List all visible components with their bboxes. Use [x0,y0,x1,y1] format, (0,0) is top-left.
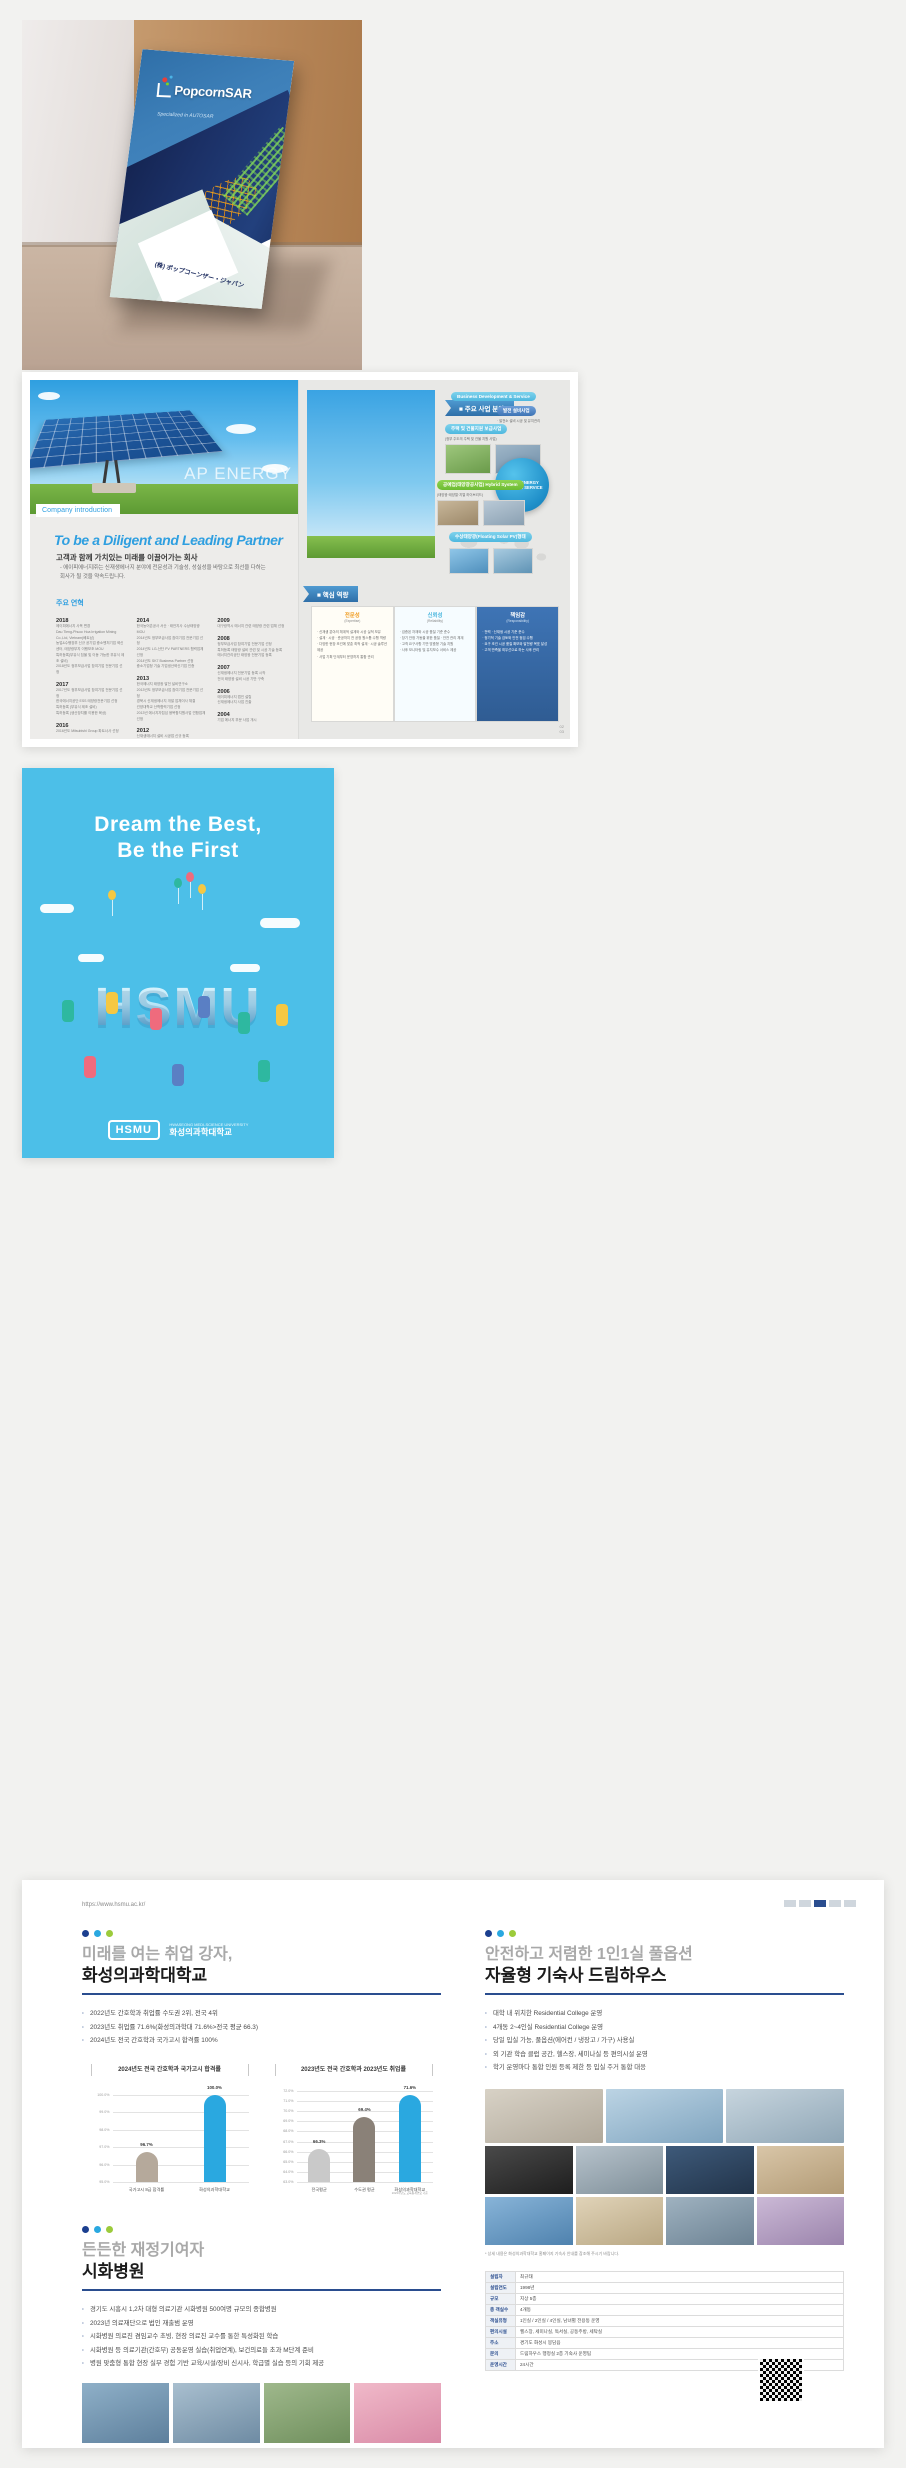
table-key: 문의 [486,2348,516,2359]
left-title-dark: 화성의과학대학교 [82,1965,441,1986]
dormitory-info-table: 설립자최규태설립연도1998년규모지상 5층총 객실수4개동객실유형1인실 / … [485,2271,844,2371]
chart-value-label: 96.7% [140,2142,152,2147]
history-entry: 신재생에너지 설비 시공업 신규 등록 [137,734,206,739]
left-section2-title-light: 든든한 재정기여자 [82,2241,441,2261]
ap-energy-wordmark: AP ENERGY [184,464,292,484]
chart-national-exam: 2024년도 전국 간호학과 국가고시 합격률 95.0%96.0%97.0%9… [91,2064,249,2196]
page-indicator-dot [844,1900,856,1907]
left-section2-bullet-list: 경기도 시흥시 1,2차 대형 의료기관 시화병원 500여명 규모의 종합병원… [82,2303,441,2370]
left-bullet-list: 2022년도 간호학과 취업률 수도권 2위, 전국 4위2023년도 취업률 … [82,2007,441,2047]
lead-subheadline: 고객과 함께 가치있는 미래를 이끌어가는 회사 [56,552,198,563]
illustration-figure [276,1004,288,1026]
illustration-figure [62,1000,74,1022]
dorm-photo [485,2146,573,2194]
table-key: 규모 [486,2293,516,2304]
illustration-figure [198,996,210,1018]
url-text: https://www.hsmu.ac.kr/ [82,1902,145,1908]
history-columns: 2018에이피에너지 사옥 변경Dau Tieng-Phuoc Hoa Irri… [56,612,286,739]
hospital-photo-grid [82,2383,441,2443]
chart-title-national-exam: 2024년도 전국 간호학과 국가고시 합격률 [91,2064,249,2076]
pill-hybrid-system: 공예업(태양광공사업) Hybrid System [437,480,524,490]
table-row: 편의시설헬스장, 세미나실, 독서실, 공동주방, 세탁실 [486,2326,844,2337]
history-entry: 기업 에너지 부문 사업 개시 [217,718,286,724]
title-rule [82,1993,441,1995]
spread-left-page: AP ENERGY Company introduction To be a D… [30,380,298,739]
core-item: · 고객 만족을 최우선으로 하는 사후 관리 [482,647,553,653]
history-section-title: 주요 연혁 [56,598,84,608]
table-key: 객실유형 [486,2315,516,2326]
chart-bar: 96.7% [136,2152,158,2182]
section-dot [485,1930,492,1937]
ap-energy-brochure-spread: AP ENERGY Company introduction To be a D… [22,372,578,747]
chart-title-employment-rate: 2023년도 전국 간호학과 2023년도 취업률 [275,2064,433,2076]
pill-hybrid-caption: (태양광·태양열·지열 하이브리드) [437,492,483,497]
chart-ytick: 98.0% [99,2128,109,2132]
history-entry: 2018년도 정부보급사업 참여기업 전문기업 선정 [56,664,125,676]
bullet-item: 2024년도 전국 간호학과 국가고시 합격률 100% [82,2034,441,2047]
cloud-icon [230,964,260,972]
chart-ytick: 69.0% [283,2119,293,2123]
section-dot [94,1930,101,1937]
hospital-photo [173,2383,260,2443]
balloon-icon [198,884,206,894]
chart-ytick: 97.0% [99,2145,109,2149]
core-body-responsibility: · 전력 · 신재생 시공 기준 준수· 정기적 기술 검토와 안전 점검 수행… [477,625,558,658]
table-row: 총 객실수4개동 [486,2304,844,2315]
table-value: 지상 5층 [516,2293,844,2304]
chart-employment-rate: 2023년도 전국 간호학과 2023년도 취업률 63.0%64.0%65.0… [275,2064,433,2196]
lead-body-text: - 에이피에너지㈜는 신재생에너지 분야에 전문성과 기술성, 성실성을 바탕으… [60,564,270,582]
bullet-item: 경기도 시흥시 1,2차 대형 의료기관 시화병원 500여명 규모의 종합병원 [82,2303,441,2316]
table-value: 4개동 [516,2304,844,2315]
history-entry: 2014년도 LG-산단 PV PARTNERS 협력업체 선정 [137,647,206,659]
history-entry: 2017년도 정부보급사업 참여기업 전문기업 선정 [56,688,125,700]
illustration-figure [106,992,118,1014]
bullet-item: 병원 맞춤형 통합 현장 실무 경험 기반 교육/시설/장비 신시사, 학급별 … [82,2357,441,2370]
page-indicator [784,1900,856,1907]
dormitory-photo-row [485,2146,844,2194]
bullet-item: 2023년 의료재단으로 법인 재출범 운영 [82,2317,441,2330]
right-title-rule [485,1993,844,1995]
balloon-icon [186,872,194,882]
table-value: 최규태 [516,2271,844,2282]
chart-value-label: 66.3% [313,2139,325,2144]
table-row: 객실유형1인실 / 2인실 / 4인실, 남녀별 전용동 운영 [486,2315,844,2326]
illustration-figure [258,1060,270,1082]
chart-ytick: 66.0% [283,2150,293,2154]
table-row: 규모지상 5층 [486,2293,844,2304]
housing-thumb [445,444,491,474]
hospital-photo [82,2383,169,2443]
chart-bar: 100.0% [204,2095,226,2182]
dormitory-photo-grid [485,2089,844,2143]
chart-value-label: 71.6% [404,2085,416,2090]
panel-base [92,483,136,493]
table-key: 설립연도 [486,2282,516,2293]
chart-ytick: 64.0% [283,2170,293,2174]
history-entry: 특허등록(부유식 침몰 및 이동 가능한 부유식 제조 설비) [56,653,125,665]
bullet-item: 4개동 2~4인실 Residential College 운영 [485,2021,844,2034]
core-body-expertise: · 신재생 분야의 체계적 설계와 시공 실적 보유· 설계 · 시공 · 준공… [312,625,393,664]
chart-plot-national-exam: 95.0%96.0%97.0%98.0%99.0%100.0%96.7%100.… [113,2086,249,2182]
core-column-reliability: 신뢰성 (Reliability) · 검증된 자재와 시공 품질 기준 준수·… [394,606,477,722]
history-entry: 특허등록 (생산장치를 이용한 육상) [56,711,125,717]
history-entry: 중소기업청 기술 기업생산혁신기업 인증 [137,664,206,670]
table-row: 설립자최규태 [486,2271,844,2282]
qr-code [758,2357,804,2403]
cloud-icon [260,918,300,928]
history-column-middle: 2014한국농어촌공사 서산 · 태안지사 수상태양광 MOU2014년도 정부… [137,612,206,739]
chart-xlabels-national-exam: 국가고시 8급 합격률화성의과학대학교 [113,2182,249,2192]
dorm-photo [485,2197,573,2245]
chart-xtick: 화성의과학대학교 [189,2187,241,2192]
pill-power-facility: 발전 설비사업 [497,406,536,416]
history-entry: 2013년도 정부보급사업 참여기업 전문기업 선정 [137,688,206,700]
hospital-photo [264,2383,351,2443]
core-title-reliability: 신뢰성 (Reliability) [395,607,476,625]
section-dot [82,1930,89,1937]
chart-bar: 66.3% [308,2149,330,2182]
spread-right-page: ■ 주요 사업 분야 ■ 핵심 역량 주택 및 건물지원 보급사업 (정부 주도… [298,380,570,739]
cloud-icon [38,392,60,400]
history-column-left: 2018에이피에너지 사옥 변경Dau Tieng-Phuoc Hoa Irri… [56,612,125,739]
table-value: 1998년 [516,2282,844,2293]
chart-xtick: 국가고시 8급 합격률 [121,2187,173,2192]
dorm-photo [757,2146,845,2194]
table-value: 1인실 / 2인실 / 4인실, 남녀별 전용동 운영 [516,2315,844,2326]
left-title-light: 미래를 여는 취업 강자, [82,1945,441,1965]
chart-xtick: 화성의과학대학교2023학년도 교육통계연보 기준 [387,2187,432,2196]
left-column: 미래를 여는 취업 강자, 화성의과학대학교 2022년도 간호학과 취업률 수… [82,1930,441,2443]
chart-xtick: 수도권 평균 [342,2187,387,2196]
section2-dots [82,2226,441,2233]
cloud-icon [78,954,104,962]
right-column: 안전하고 저렴한 1인1실 풀옵션 자율형 기숙사 드림하우스 대학 내 위치한… [485,1930,844,2443]
lead-headline: To be a Diligent and Leading Partner [54,532,283,548]
page-indicator-dot-active [814,1900,826,1907]
dorm-photo [606,2089,724,2143]
core-item: · 다양한 현장 조건에 맞춘 최적 설계 · 시공 솔루션 제공 [317,641,388,653]
core-body-reliability: · 검증된 자재와 시공 품질 기준 준수· 장기 안정 가동을 위한 품질 ·… [395,625,476,658]
hsmu-brochure-spread: https://www.hsmu.ac.kr/ 미래를 여는 취업 강자, 화성… [22,1880,884,2448]
history-entry: 한국농어촌공사 서산 · 태안지사 수상태양광 MOU [137,624,206,636]
chart-row: 2024년도 전국 간호학과 국가고시 합격률 95.0%96.0%97.0%9… [82,2064,441,2196]
bullet-item: 외 기관 학습 클럽 공간, 헬스장, 세미나실 등 편의시설 운영 [485,2048,844,2061]
table-key: 설립자 [486,2271,516,2282]
chart-ytick: 70.0% [283,2109,293,2113]
illustration-figure [150,1008,162,1030]
pill-housing-support: 주택 및 건물지원 보급사업 [445,424,507,434]
page-indicator-dot [829,1900,841,1907]
core-title-responsibility: 책임감 (Responsibility) [477,607,558,625]
dorm-photo [666,2197,754,2245]
table-key: 총 객실수 [486,2304,516,2315]
poster-headline: Dream the Best, Be the First [22,812,334,865]
history-entry: 신재생에너지 사업 진출 [217,700,286,706]
dormitory-note: * 상세 내용은 화성의과학대학교 홈페이지 기숙사 안내를 참조해 주시기 바… [485,2251,844,2257]
section-dot [509,1930,516,1937]
core-competency-banner: ■ 핵심 역량 [303,586,358,602]
table-key: 주소 [486,2337,516,2348]
bullet-item: 시화병원 등 의료기관(간호부) 공동운영 실습(취업연계), 보건의료들 초과… [82,2344,441,2357]
hospital-photo [354,2383,441,2443]
popcornsar-brochure-photo: PopcornSAR Specialized in AUTOSAR (株) ポッ… [22,20,362,370]
history-entry: 대구광역시 에너지 관련 태양광 관련 업체 선정 [217,624,286,630]
chart-bar: 71.6% [399,2095,421,2182]
dorm-photo [726,2089,844,2143]
chart-ytick: 65.0% [283,2160,293,2164]
chart-ytick: 96.0% [99,2163,109,2167]
section-dot [497,1930,504,1937]
history-entry: 전국 태양광 설비 시공 기반 구축 [217,677,286,683]
pill-floating-solar: 수상태양광(Floating Solar PV)형태 [449,532,532,542]
chart-ytick: 68.0% [283,2129,293,2133]
pill-business-development: Business Development & Service [451,392,536,401]
dorm-photo [576,2197,664,2245]
core-item: · 사후 모니터링 및 유지보수 서비스 제공 [400,647,471,653]
bullet-item: 2023년도 취업률 71.6%(화성의과학대 71.6%>전국 평균 66.3… [82,2021,441,2034]
brochure-cover: PopcornSAR Specialized in AUTOSAR (株) ポッ… [110,49,294,309]
section-dots [82,1930,441,1937]
chart-ytick: 71.0% [283,2099,293,2103]
chart-xlabels-employment-rate: 전국평균수도권 평균화성의과학대학교2023학년도 교육통계연보 기준 [297,2182,433,2196]
table-key: 운영시간 [486,2359,516,2370]
section-dot [106,1930,113,1937]
right-title-dark: 자율형 기숙사 드림하우스 [485,1965,844,1986]
grass-strip [307,536,435,558]
table-row: 설립연도1998년 [486,2282,844,2293]
history-entry: 2013년 에너지자립섬 융복합지원사업 연합업체 선정 [137,711,206,723]
chart-bars: 66.3%69.4%71.6% [297,2086,433,2182]
chart-xtick-sub: 2023학년도 교육통계연보 기준 [387,2192,432,2196]
hsmu-logo-en: HSMU [108,1120,160,1140]
history-entry: 2014년도 정부보급사업 참여기업 전문기업 선정 [137,636,206,648]
core-competency-grid: 전문성 (Expertise) · 신재생 분야의 체계적 설계와 시공 실적 … [311,606,559,722]
dorm-photo [576,2146,664,2194]
chart-value-label: 69.4% [358,2107,370,2112]
page-numbers: 02 03 [560,724,564,735]
chart-gridline [297,2182,433,2183]
chart-ytick: 67.0% [283,2140,293,2144]
core-column-responsibility: 책임감 (Responsibility) · 전력 · 신재생 시공 기준 준수… [476,606,559,722]
right-title-light: 안전하고 저렴한 1인1실 풀옵션 [485,1945,844,1965]
chart-ytick: 63.0% [283,2180,293,2184]
chart-bars: 96.7%100.0% [113,2086,249,2182]
balloon-icon [174,878,182,888]
history-entry: 에너지관리공단 태양광 전문기업 등록 [217,653,286,659]
illustration-figure [238,1012,250,1034]
popcornsar-logo-icon [156,83,171,98]
bullet-item: 대학 내 위치한 Residential College 운영 [485,2007,844,2020]
section-dot [82,2226,89,2233]
pill-housing-caption: (정부 주도의 주택 및 건물 지원 사업) [445,436,497,441]
balloon-icon [108,890,116,900]
left-section2-title-dark: 시화병원 [82,2261,441,2282]
history-entry: 2016년도 Mitsubishi Group 파트너사 선정 [56,729,125,735]
section-dot [106,2226,113,2233]
chart-ytick: 95.0% [99,2180,109,2184]
chart-ytick: 99.0% [99,2110,109,2114]
cloud-icon [40,904,74,913]
chart-xtick: 전국평균 [297,2187,342,2196]
chart-gridline [113,2182,249,2183]
hsmu-dream-poster: Dream the Best, Be the First HSMU HSMU H… [22,768,334,1158]
table-key: 편의시설 [486,2326,516,2337]
company-introduction-tab: Company introduction [36,504,120,517]
illustration-figure [84,1056,96,1078]
chart-bar: 69.4% [353,2117,375,2182]
section2-rule [82,2289,441,2291]
dormitory-photo-row-2 [485,2197,844,2245]
hsmu-logo-kr: HWASEONG MEDI-SCIENCE UNIVERSITY 화성의과학대학… [169,1122,248,1138]
bullet-item: 2022년도 간호학과 취업률 수도권 2위, 전국 4위 [82,2007,441,2020]
table-row: 주소경기도 화성시 봉담읍 [486,2337,844,2348]
section-dot [94,2226,101,2233]
cloud-icon [226,424,256,434]
core-column-expertise: 전문성 (Expertise) · 신재생 분야의 체계적 설계와 시공 실적 … [311,606,394,722]
history-entry: Dau Tieng-Phuoc Hoa Irrigation Mining Co… [56,630,125,642]
chart-value-label: 100.0% [207,2085,222,2090]
dorm-photo [757,2197,845,2245]
core-item: · 사업 기획 단계부터 운영까지 통합 관리 [317,654,388,660]
spread-columns: 미래를 여는 취업 강자, 화성의과학대학교 2022년도 간호학과 취업률 수… [82,1930,844,2443]
chart-ytick: 100.0% [97,2093,109,2097]
dorm-photo [485,2089,603,2143]
history-column-right: 2009대구광역시 에너지 관련 태양광 관련 업체 선정2008정부보급사업 … [217,612,286,739]
floating-solar-thumb [449,548,489,574]
history-entry: 농업&수행장부 신규 공기업 중소벤처기업 혁신센터, 태양광부지 이행보조 M… [56,641,125,653]
right-bullet-list: 대학 내 위치한 Residential College 운영4개동 2~4인실… [485,2007,844,2074]
table-value: 헬스장, 세미나실, 독서실, 공동주방, 세탁실 [516,2326,844,2337]
bullet-item: 학기 운영마다 통합 인원 등록 제한 등 입실 주거 통합 대응 [485,2061,844,2074]
chart-ytick: 72.0% [283,2089,293,2093]
bullet-item: 시화병원 의료진 겸임교수 초빙, 현장 의료진 교수를 통한 특성화된 학습 [82,2330,441,2343]
page-indicator-dot [799,1900,811,1907]
sky-photo [307,390,435,558]
core-title-expertise: 전문성 (Expertise) [312,607,393,625]
dorm-photo [666,2146,754,2194]
bullet-item: 당일 입실 가능, 풀옵션(에어컨 / 냉장고 / 가구) 사용실 [485,2034,844,2047]
floating-solar-thumb-2 [493,548,533,574]
chart-plot-employment-rate: 63.0%64.0%65.0%66.0%67.0%68.0%69.0%70.0%… [297,2086,433,2182]
table-value: 경기도 화성시 봉담읍 [516,2337,844,2348]
illustration-figure [172,1064,184,1086]
right-section-dots [485,1930,844,1937]
hsmu-logo: HSMU HWASEONG MEDI-SCIENCE UNIVERSITY 화성… [22,1120,334,1140]
pill-power-caption: · 발전소 설비 시공 및 유지관리 [497,418,540,423]
page-indicator-dot [784,1900,796,1907]
